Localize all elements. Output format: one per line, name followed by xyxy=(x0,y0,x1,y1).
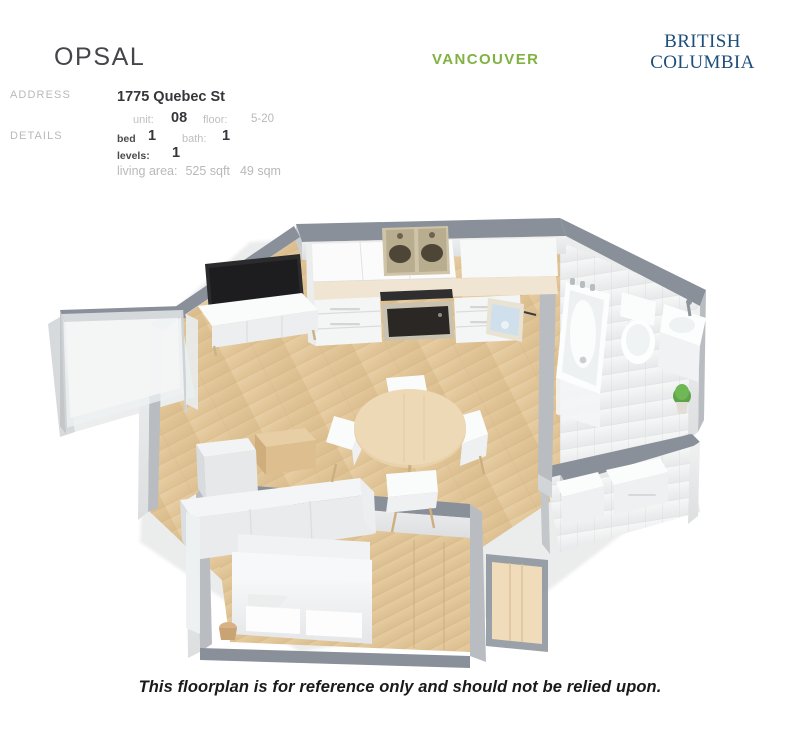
unit-label: unit: xyxy=(133,114,154,126)
logo-line-1: BRITISH xyxy=(640,31,765,52)
bed-value: 1 xyxy=(148,128,156,144)
bed-icon xyxy=(232,552,372,644)
unit-value: 08 xyxy=(171,110,187,126)
wardrobe xyxy=(378,538,470,652)
living-area-sqft: 525 sqft xyxy=(185,164,229,178)
pillow xyxy=(306,610,362,638)
address-section-label: ADDRESS xyxy=(10,89,71,101)
levels-value: 1 xyxy=(172,145,180,161)
bed-label: bed xyxy=(117,133,136,145)
footer: This floorplan is for reference only and… xyxy=(0,672,800,734)
living-area-sqm: 49 sqm xyxy=(240,164,281,178)
living-area-label: living area: xyxy=(117,164,177,178)
wall-oven-icon xyxy=(382,301,454,341)
toilet-icon xyxy=(620,292,656,364)
coffee-table-icon xyxy=(255,428,316,475)
address-value: 1775 Quebec St xyxy=(117,89,225,105)
basket-icon xyxy=(219,622,237,640)
entry-closet xyxy=(492,562,542,644)
disclaimer-text: This floorplan is for reference only and… xyxy=(0,678,800,697)
header: OPSAL VANCOUVER BRITISH COLUMBIA ADDRESS… xyxy=(0,0,800,182)
floorplan-stage xyxy=(0,182,800,672)
living-area-row: living area:525 sqft49 sqm xyxy=(117,164,281,178)
page-title: OPSAL xyxy=(54,42,145,72)
bedroom-glass-door xyxy=(186,512,200,634)
city-label: VANCOUVER xyxy=(432,51,539,69)
bath-label: bath: xyxy=(182,133,206,145)
floor-value: 5-20 xyxy=(251,113,274,125)
floor-label: floor: xyxy=(203,114,227,126)
kitchen xyxy=(306,226,558,346)
details-section-label: DETAILS xyxy=(10,130,63,142)
levels-label: levels: xyxy=(117,150,150,162)
pillow xyxy=(246,606,300,634)
logo-line-2: COLUMBIA xyxy=(640,52,765,73)
british-columbia-logo: BRITISH COLUMBIA xyxy=(640,31,765,73)
floorplan-3d-render xyxy=(0,182,800,672)
balcony-door xyxy=(186,314,198,410)
gas-cooktop-icon xyxy=(382,226,450,276)
lower-cabinets-left xyxy=(314,297,382,346)
bath-value: 1 xyxy=(222,128,230,144)
entry xyxy=(486,554,548,652)
